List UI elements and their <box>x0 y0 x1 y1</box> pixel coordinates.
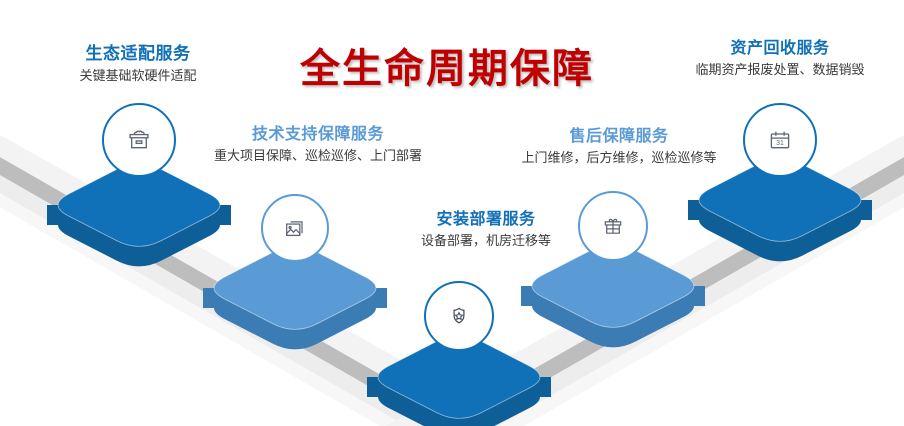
photo-stack-icon <box>281 214 309 242</box>
label-block-install-deploy: 安装部署服务设备部署，机房迁移等 <box>378 211 594 250</box>
node-circle-install-deploy[interactable] <box>424 281 494 351</box>
label-subtitle-install-deploy: 设备部署，机房迁移等 <box>378 233 594 250</box>
svg-text:31: 31 <box>776 140 784 147</box>
archive-box-icon <box>124 125 154 155</box>
label-title-eco-adaptation: 生态适配服务 <box>28 44 248 64</box>
platform-eco-adaptation <box>47 164 231 267</box>
gift-box-icon <box>599 212 627 240</box>
label-title-install-deploy: 安装部署服务 <box>378 211 594 229</box>
node-circle-tech-support[interactable] <box>261 194 329 262</box>
label-block-asset-recycle: 资产回收服务临期资产报废处置、数据销毁 <box>662 40 898 79</box>
node-circle-eco-adaptation[interactable] <box>102 103 176 177</box>
page-title: 全生命周期保障 <box>300 36 594 94</box>
label-subtitle-tech-support: 重大项目保障、巡检巡修、上门部署 <box>190 148 446 165</box>
label-title-tech-support: 技术支持保障服务 <box>190 126 446 144</box>
label-title-after-sales: 售后保障服务 <box>492 128 746 146</box>
label-subtitle-after-sales: 上门维修，后方维修，巡检巡修等 <box>492 150 746 167</box>
label-block-eco-adaptation: 生态适配服务关键基础软硬件适配 <box>28 44 248 84</box>
label-block-tech-support: 技术支持保障服务重大项目保障、巡检巡修、上门部署 <box>190 126 446 165</box>
node-circle-asset-recycle[interactable]: 31 <box>743 103 817 177</box>
infographic-canvas: 生态适配服务关键基础软硬件适配 技术支持保障服务重大项目保障、巡检巡修、上门部署… <box>0 0 904 426</box>
shield-star-icon <box>445 302 473 330</box>
label-block-after-sales: 售后保障服务上门维修，后方维修，巡检巡修等 <box>492 128 746 167</box>
label-subtitle-asset-recycle: 临期资产报废处置、数据销毁 <box>662 62 898 79</box>
calendar-31-icon: 31 <box>765 125 795 155</box>
label-title-asset-recycle: 资产回收服务 <box>662 40 898 58</box>
label-subtitle-eco-adaptation: 关键基础软硬件适配 <box>28 68 248 85</box>
platform-tech-support <box>203 247 387 350</box>
